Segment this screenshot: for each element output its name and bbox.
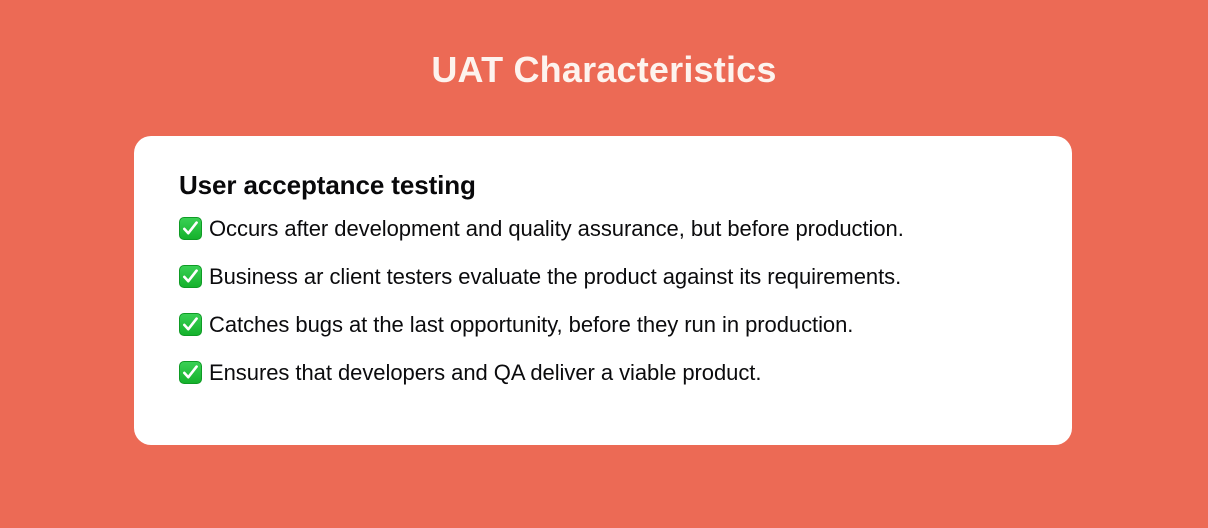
white-heavy-check-mark-icon (179, 217, 202, 240)
card-heading: User acceptance testing (179, 168, 1032, 202)
white-heavy-check-mark-icon (179, 313, 202, 336)
list-item-label: Occurs after development and quality ass… (209, 214, 904, 244)
list-item: Catches bugs at the last opportunity, be… (179, 310, 1032, 340)
list-item-label: Catches bugs at the last opportunity, be… (209, 310, 853, 340)
page-title: UAT Characteristics (0, 47, 1208, 93)
white-heavy-check-mark-icon (179, 265, 202, 288)
list-item: Business ar client testers evaluate the … (179, 262, 1032, 292)
list-item-label: Ensures that developers and QA deliver a… (209, 358, 761, 388)
slide-canvas: UAT Characteristics User acceptance test… (0, 0, 1208, 528)
content-card: User acceptance testing (134, 136, 1072, 445)
list-item: Occurs after development and quality ass… (179, 214, 1032, 244)
list-item: Ensures that developers and QA deliver a… (179, 358, 1032, 388)
characteristics-list: Occurs after development and quality ass… (179, 214, 1032, 388)
list-item-label: Business ar client testers evaluate the … (209, 262, 901, 292)
white-heavy-check-mark-icon (179, 361, 202, 384)
